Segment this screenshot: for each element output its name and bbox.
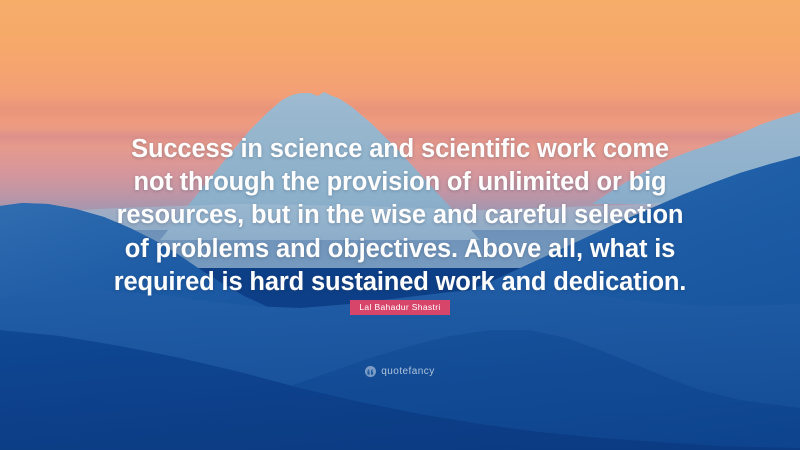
quote-line-2: not through the provision of unlimited o… [0,166,800,199]
quote-wallpaper: Success in science and scientific work c… [0,0,800,450]
author-name-badge[interactable]: Lal Bahadur Shastri [350,300,449,315]
quote-line-3: resources, but in the wise and careful s… [0,199,800,232]
quote-mark-icon [365,366,376,377]
brand-watermark[interactable]: quotefancy [0,366,800,377]
quote-line-1: Success in science and scientific work c… [0,133,800,166]
author-attribution: Lal Bahadur Shastri [0,300,800,318]
quote-line-4: of problems and objectives. Above all, w… [0,233,800,266]
brand-name: quotefancy [381,366,434,377]
quote-text: Success in science and scientific work c… [0,133,800,299]
quote-line-5: required is hard sustained work and dedi… [0,266,800,299]
